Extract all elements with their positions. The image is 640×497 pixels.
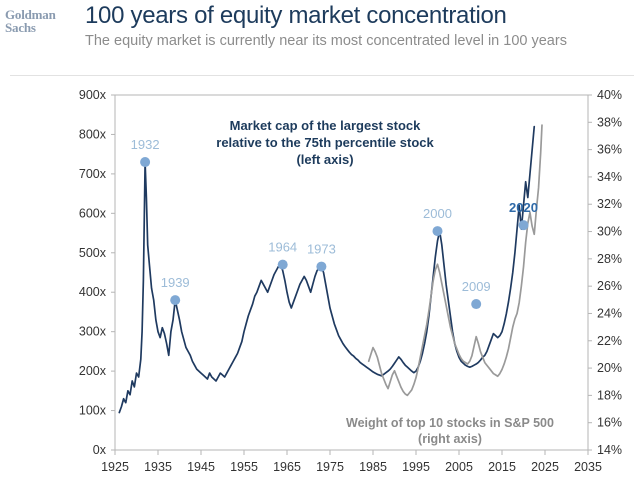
year-marker-dot [170,295,180,305]
year-marker-dot [140,157,150,167]
year-marker-dot [519,220,529,230]
y-right-tick-label: 38% [597,115,622,129]
year-marker-label-2020: 2020 [509,200,538,215]
logo-line-2: Sachs [5,21,83,34]
y-right-tick-label: 32% [597,197,622,211]
y-right-tick-label: 14% [597,443,622,457]
year-marker-label-1939: 1939 [161,275,190,290]
y-left-tick-label: 900x [79,88,107,102]
y-right-tick-label: 30% [597,225,622,239]
page-subtitle: The equity market is currently near its … [85,33,567,49]
page-title: 100 years of equity market concentration [85,2,507,30]
y-left-tick-label: 500x [79,246,107,260]
x-tick-label: 1925 [101,460,129,474]
x-tick-label: 1975 [316,460,344,474]
y-right-tick-label: 28% [597,252,622,266]
y-left-tick-label: 300x [79,325,107,339]
y-right-tick-label: 26% [597,279,622,293]
concentration-line-chart: 0x100x200x300x400x500x600x700x800x900x14… [0,80,640,497]
annotation-market-cap-line: relative to the 75th percentile stock [216,135,434,150]
year-marker-label-1932: 1932 [131,137,160,152]
goldman-sachs-logo: Goldman Sachs [5,8,83,34]
y-left-tick-label: 600x [79,206,107,220]
x-tick-label: 1945 [187,460,215,474]
y-right-tick-label: 20% [597,361,622,375]
x-tick-label: 2025 [531,460,559,474]
y-right-tick-label: 22% [597,334,622,348]
chart-header: Goldman Sachs 100 years of equity market… [0,0,640,62]
y-right-tick-label: 36% [597,143,622,157]
year-marker-label-2009: 2009 [462,279,491,294]
y-left-tick-label: 400x [79,285,107,299]
x-tick-label: 1965 [273,460,301,474]
year-marker-dot [316,262,326,272]
year-marker-label-1973: 1973 [307,242,336,257]
series-line-top10-weight [369,125,542,395]
year-marker-dot [278,260,288,270]
y-right-tick-label: 34% [597,170,622,184]
chart-container: 0x100x200x300x400x500x600x700x800x900x14… [0,80,640,497]
y-left-tick-label: 100x [79,404,107,418]
y-right-tick-label: 40% [597,88,622,102]
annotation-top10-weight-line: Weight of top 10 stocks in S&P 500 [346,416,554,430]
x-tick-label: 1955 [230,460,258,474]
annotation-market-cap-line: Market cap of the largest stock [230,118,421,133]
x-tick-label: 2005 [445,460,473,474]
x-tick-label: 1935 [144,460,172,474]
annotation-market-cap-line: (left axis) [296,152,353,167]
year-marker-label-2000: 2000 [423,206,452,221]
year-marker-dot [433,226,443,236]
series-line-market-cap [119,127,534,413]
year-marker-label-1964: 1964 [268,240,297,255]
annotation-top10-weight-line: (right axis) [418,432,482,446]
x-tick-label: 2035 [574,460,602,474]
y-right-tick-label: 18% [597,388,622,402]
year-marker-dot [471,299,481,309]
y-left-tick-label: 700x [79,167,107,181]
y-right-tick-label: 16% [597,416,622,430]
y-left-tick-label: 200x [79,364,107,378]
x-tick-label: 1985 [359,460,387,474]
x-tick-label: 1995 [402,460,430,474]
y-right-tick-label: 24% [597,306,622,320]
y-left-tick-label: 0x [93,443,107,457]
y-left-tick-label: 800x [79,127,107,141]
header-divider [10,75,634,76]
x-tick-label: 2015 [488,460,516,474]
